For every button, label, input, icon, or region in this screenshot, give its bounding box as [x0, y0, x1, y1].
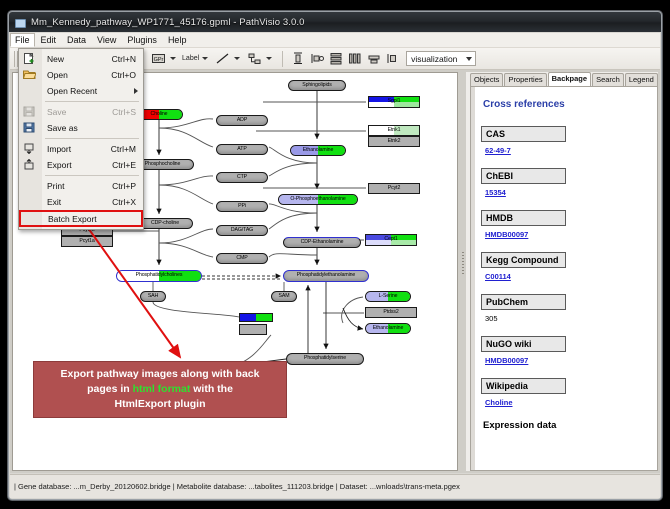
node-dag-tag[interactable]: DAG/TAG: [216, 225, 268, 236]
menu-item-save-as-label: Save as: [47, 123, 78, 133]
interaction-dropdown-icon[interactable]: [264, 50, 273, 67]
node-label: Phosphatidylserine: [304, 356, 346, 361]
chevron-down-icon-2: [466, 57, 472, 61]
xref-value-hmdb: HMDB00097: [485, 230, 651, 239]
xref-link-wikipedia[interactable]: Choline: [485, 398, 513, 407]
xref-value-kegg: C00114: [485, 272, 651, 281]
xref-link-nugo[interactable]: HMDB00097: [485, 356, 528, 365]
node-label: Phosphatidylethanolamine: [297, 273, 355, 278]
node-label: L-Serine: [379, 294, 398, 299]
interaction-tool[interactable]: [246, 50, 263, 67]
cross-references-title: Cross references: [483, 99, 651, 110]
annotation-line-1: Export pathway images along with back: [61, 367, 260, 382]
menu-plugins[interactable]: Plugins: [122, 33, 162, 47]
node-label: SAH: [148, 294, 158, 299]
xref-link-cas[interactable]: 62-49-7: [485, 146, 511, 155]
node-etnk2[interactable]: Etnk2: [368, 136, 420, 147]
node-chka[interactable]: [239, 324, 267, 335]
xref-source-wikipedia: Wikipedia: [481, 378, 566, 394]
xref-source-pubchem: PubChem: [481, 294, 566, 310]
menu-bar: File Edit Data View Plugins Help: [10, 33, 660, 48]
node-sah[interactable]: SAH: [140, 291, 166, 302]
node-adp[interactable]: ADP: [216, 115, 268, 126]
toolbar-separator-2: [282, 51, 283, 67]
node-label: CMP: [236, 256, 247, 261]
same-width-tool[interactable]: [365, 50, 382, 67]
menu-item-save-as[interactable]: Save as: [19, 120, 143, 136]
tab-backpage[interactable]: Backpage: [548, 72, 591, 86]
side-panel-tabs: Objects Properties Backpage Search Legen…: [470, 72, 658, 86]
node-label: Etnk2: [388, 139, 401, 144]
node-label: Etnk1: [388, 128, 401, 133]
node-pcyt2[interactable]: Pcyt2: [368, 183, 420, 194]
xref-source-cas: CAS: [481, 126, 566, 142]
node-cdp-choline[interactable]: CDP-choline: [137, 218, 193, 229]
menu-data[interactable]: Data: [62, 33, 91, 47]
node-label: ATP: [237, 147, 246, 152]
node-label: DAG/TAG: [231, 228, 253, 233]
node-ctp[interactable]: CTP: [216, 172, 268, 183]
node-label: ADP: [237, 118, 247, 123]
menu-item-open-accel: Ctrl+O: [111, 70, 136, 80]
node-phosphatidylserine[interactable]: Phosphatidylserine: [286, 353, 364, 365]
gene-product-dropdown-icon[interactable]: [168, 50, 177, 67]
xref-value-nugo: HMDB00097: [485, 356, 651, 365]
save-as-icon: [23, 122, 37, 134]
screenshot-root: Mm_Kennedy_pathway_WP1771_45176.gpml - P…: [0, 0, 670, 509]
xref-link-kegg[interactable]: C00114: [485, 272, 511, 281]
node-cept1[interactable]: Cept1: [365, 234, 417, 246]
menu-item-import[interactable]: Import Ctrl+M: [19, 141, 143, 157]
xref-value-pubchem: 305: [485, 314, 651, 323]
menu-separator-3: [45, 175, 139, 176]
status-bar: | Gene database: ...m_Derby_20120602.bri…: [10, 474, 660, 498]
menu-item-open-recent[interactable]: Open Recent: [19, 83, 143, 99]
menu-item-export[interactable]: Export Ctrl+E: [19, 157, 143, 173]
menu-item-batch-export-label: Batch Export: [48, 214, 97, 224]
node-ethanolamine-bottom[interactable]: Ethanolamine: [365, 323, 411, 334]
annotation-line-2a: pages in: [87, 383, 133, 395]
title-bar: Mm_Kennedy_pathway_WP1771_45176.gpml - P…: [9, 12, 661, 32]
application-icon: [14, 16, 26, 28]
node-label: Phosphatidylcholines: [136, 273, 183, 278]
xref-value-chebi: 15354: [485, 188, 651, 197]
menu-separator-1: [45, 101, 139, 102]
node-sphingolipids[interactable]: Sphingolipids: [288, 80, 346, 91]
label-tool-text: Label: [180, 55, 201, 62]
node-label: Sgpl1: [388, 99, 401, 104]
side-panel: Objects Properties Backpage Search Legen…: [466, 72, 658, 471]
node-label: SAM: [279, 294, 290, 299]
node-pemt[interactable]: [239, 313, 273, 322]
tab-objects[interactable]: Objects: [470, 73, 503, 86]
window-title: Mm_Kennedy_pathway_WP1771_45176.gpml - P…: [31, 17, 305, 28]
new-document-icon: [23, 53, 37, 65]
application-window: Mm_Kennedy_pathway_WP1771_45176.gpml - P…: [8, 11, 662, 500]
menu-item-print-label: Print: [47, 181, 64, 191]
chevron-right-icon: [134, 88, 138, 94]
label-tool[interactable]: Label: [182, 50, 199, 67]
xref-link-chebi[interactable]: 15354: [485, 188, 506, 197]
import-icon: [23, 143, 37, 155]
node-etnk1[interactable]: Etnk1: [368, 125, 420, 136]
distribute-horizontal-tool[interactable]: [346, 50, 363, 67]
node-label: Phosphocholine: [145, 162, 181, 167]
menu-view[interactable]: View: [92, 33, 121, 47]
node-label: CDP-Ethanolamine: [301, 240, 344, 245]
node-label: Ethanolamine: [303, 148, 334, 153]
annotation-line-3: HtmlExport plugin: [115, 397, 206, 412]
node-label: Choline: [151, 112, 168, 117]
distribute-vertical-tool[interactable]: [327, 50, 344, 67]
node-phosphatidylethanolamine[interactable]: Phosphatidylethanolamine: [283, 270, 369, 282]
menu-item-export-accel: Ctrl+E: [112, 160, 136, 170]
menu-file[interactable]: File: [10, 33, 35, 47]
node-pcyt1a[interactable]: Pcyt1a: [61, 236, 113, 247]
annotation-highlight: html format: [133, 383, 191, 395]
node-label: Ptdss2: [383, 310, 398, 315]
label-dropdown-icon[interactable]: [200, 50, 209, 67]
menu-item-print[interactable]: Print Ctrl+P: [19, 178, 143, 194]
xref-source-hmdb: HMDB: [481, 210, 566, 226]
node-cdp-ethanolamine[interactable]: CDP-Ethanolamine: [283, 237, 361, 248]
save-disk-icon: [23, 106, 37, 118]
annotation-callout: Export pathway images along with back pa…: [33, 361, 287, 418]
xref-source-nugo: NuGO wiki: [481, 336, 566, 352]
node-label: Ethanolamine: [373, 326, 404, 331]
node-label: O-Phosphoethanolamine: [290, 197, 345, 202]
node-ptdss2[interactable]: Ptdss2: [365, 307, 417, 318]
menu-item-print-accel: Ctrl+P: [112, 181, 136, 191]
menu-item-batch-export[interactable]: Batch Export: [20, 211, 142, 226]
tab-properties[interactable]: Properties: [504, 73, 546, 86]
expression-data-title: Expression data: [483, 420, 651, 431]
annotation-line-2b: with the: [190, 383, 233, 395]
node-label: CDP-choline: [151, 221, 179, 226]
menu-item-new-accel: Ctrl+N: [112, 54, 136, 64]
xref-link-hmdb[interactable]: HMDB00097: [485, 230, 528, 239]
svg-text:GPr: GPr: [154, 57, 164, 63]
export-icon: [23, 159, 37, 171]
xref-source-kegg: Kegg Compound: [481, 252, 566, 268]
line-dropdown-icon[interactable]: [232, 50, 241, 67]
node-label: Sphingolipids: [302, 83, 332, 88]
gene-product-tool[interactable]: GPr: [150, 50, 167, 67]
menu-item-export-label: Export: [47, 160, 72, 170]
node-label: CTP: [237, 175, 247, 180]
backpage-panel: Cross references CAS 62-49-7 ChEBI 15354…: [470, 86, 658, 471]
tab-legend[interactable]: Legend: [625, 73, 658, 86]
menu-item-exit-accel: Ctrl+X: [112, 197, 136, 207]
node-sam[interactable]: SAM: [271, 291, 297, 302]
align-top-tool[interactable]: [289, 50, 306, 67]
menu-item-open-recent-label: Open Recent: [47, 86, 97, 96]
node-label: PPi: [238, 204, 246, 209]
menu-edit[interactable]: Edit: [36, 33, 62, 47]
node-phosphatidylcholines[interactable]: Phosphatidylcholines: [116, 270, 202, 282]
node-o-phosphoethanolamine[interactable]: O-Phosphoethanolamine: [278, 194, 358, 205]
menu-help[interactable]: Help: [163, 33, 192, 47]
menu-item-import-accel: Ctrl+M: [111, 144, 136, 154]
node-sgpl1[interactable]: Sgpl1: [368, 96, 420, 108]
menu-item-new-label: New: [47, 54, 64, 64]
node-atp[interactable]: ATP: [216, 144, 268, 155]
node-label: Pcyt1a: [79, 239, 94, 244]
menu-item-new[interactable]: New Ctrl+N: [19, 51, 143, 67]
open-folder-icon: [23, 69, 37, 81]
node-l-serine[interactable]: L-Serine: [365, 291, 411, 302]
file-menu-dropdown: New Ctrl+N Open Ctrl+O Open Recent Save: [18, 48, 144, 230]
menu-item-import-label: Import: [47, 144, 71, 154]
xref-source-chebi: ChEBI: [481, 168, 566, 184]
annotation-line-2: pages in html format with the: [87, 382, 233, 397]
xref-value-wikipedia: Choline: [485, 398, 651, 407]
align-left-tool[interactable]: [308, 50, 325, 67]
node-ppi[interactable]: PPi: [216, 201, 268, 212]
backpage-content: Cross references CAS 62-49-7 ChEBI 15354…: [475, 87, 657, 470]
menu-item-save: Save Ctrl+S: [19, 104, 143, 120]
node-cmp[interactable]: CMP: [216, 253, 268, 264]
node-ethanolamine-top[interactable]: Ethanolamine: [290, 145, 346, 156]
same-height-tool[interactable]: [384, 50, 401, 67]
menu-item-exit-label: Exit: [47, 197, 61, 207]
tab-search[interactable]: Search: [592, 73, 624, 86]
node-label: Cept1: [384, 237, 397, 242]
menu-item-save-accel: Ctrl+S: [112, 107, 136, 117]
menu-item-open[interactable]: Open Ctrl+O: [19, 67, 143, 83]
visualization-value: visualization: [411, 54, 457, 64]
node-label: Pcyt2: [388, 186, 400, 191]
xref-value-cas: 62-49-7: [485, 146, 651, 155]
status-text: | Gene database: ...m_Derby_20120602.bri…: [14, 482, 460, 491]
menu-item-save-label: Save: [47, 107, 66, 117]
line-tool[interactable]: [214, 50, 231, 67]
menu-item-open-label: Open: [47, 70, 68, 80]
menu-separator-2: [45, 138, 139, 139]
visualization-combo[interactable]: visualization: [406, 51, 476, 66]
menu-item-exit[interactable]: Exit Ctrl+X: [19, 194, 143, 210]
